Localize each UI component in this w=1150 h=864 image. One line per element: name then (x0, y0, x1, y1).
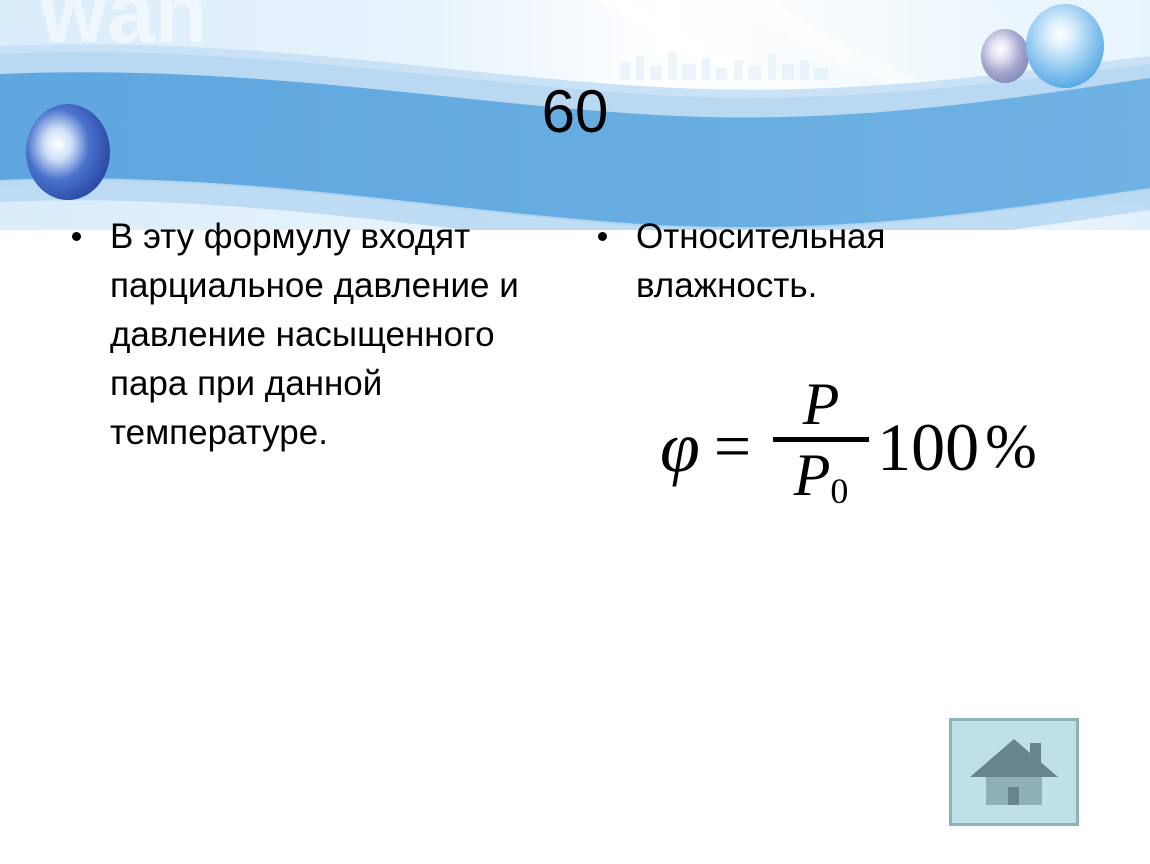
formula-multiplier: 100 (875, 413, 979, 481)
page-title: 60 (0, 78, 1150, 146)
formula-denominator-subscript: 0 (830, 470, 848, 510)
bullet-dot-icon (72, 232, 81, 241)
formula-denominator-symbol: P (794, 442, 831, 508)
formula-denominator: P0 (784, 442, 859, 524)
slide: wan (0, 0, 1150, 864)
right-content-column: Относительная влажность. (588, 212, 1068, 310)
list-item: Относительная влажность. (588, 212, 1068, 310)
home-icon (968, 735, 1060, 809)
formula-phi: φ (660, 411, 714, 483)
bullet-dot-icon (598, 232, 607, 241)
list-item-label: Относительная влажность. (636, 217, 885, 305)
formula-equals: = (714, 414, 767, 480)
formula-fraction: P P0 (767, 371, 875, 524)
home-button[interactable] (949, 718, 1079, 826)
left-content-column: В эту формулу входят парциальное давлени… (62, 212, 562, 457)
list-item: В эту формулу входят парциальное давлени… (62, 212, 562, 457)
formula-percent: % (979, 416, 1037, 478)
humidity-formula: φ = P P0 100 % (660, 352, 1037, 542)
formula-numerator: P (793, 371, 850, 437)
list-item-label: В эту формулу входят парциальное давлени… (110, 217, 519, 452)
